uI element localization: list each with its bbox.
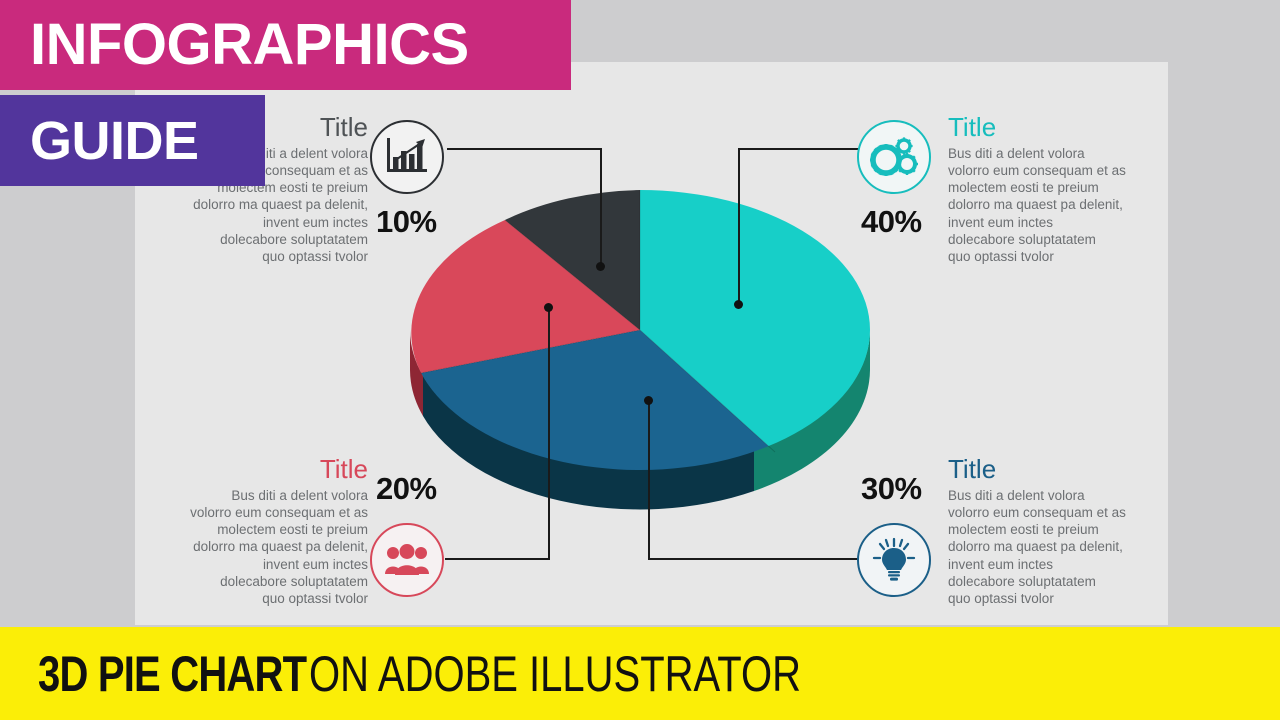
callout-block-bottom-right: Title Bus diti a delent volora volorro e… bbox=[948, 455, 1188, 607]
leader-dot-40 bbox=[734, 300, 743, 309]
leader-dot-10 bbox=[596, 262, 605, 271]
lightbulb-idea-glyph bbox=[873, 538, 915, 582]
banner-guide: GUIDE bbox=[0, 95, 265, 186]
banner-infographics: INFOGRAPHICS bbox=[0, 0, 571, 90]
banner-infographics-label: INFOGRAPHICS bbox=[30, 16, 469, 74]
callout-body-bottom-right: Bus diti a delent volora volorro eum con… bbox=[948, 487, 1188, 608]
callout-block-bottom-left: Title Bus diti a delent volora volorro e… bbox=[128, 455, 368, 607]
leader-line-10-vertical bbox=[600, 148, 602, 268]
leader-line-10-horizontal bbox=[447, 148, 601, 150]
gears-icon[interactable] bbox=[857, 120, 931, 194]
callout-block-top-right: Title Bus diti a delent volora volorro e… bbox=[948, 113, 1188, 265]
people-group-glyph bbox=[385, 544, 429, 576]
callout-body-top-right: Bus diti a delent volora volorro eum con… bbox=[948, 145, 1188, 266]
bottom-title-bold: 3D PIE CHART bbox=[38, 649, 306, 699]
callout-title-top-right: Title bbox=[948, 113, 1188, 142]
leader-line-40-horizontal bbox=[738, 148, 860, 150]
leader-line-30-vertical bbox=[648, 400, 650, 560]
bottom-title-text: 3D PIE CHARTON ADOBE ILLUSTRATOR bbox=[38, 649, 924, 699]
infographic-canvas: 10% 40% 20% 30% Title Bus diti a delent … bbox=[0, 0, 1280, 720]
pie-chart-3d bbox=[408, 190, 872, 510]
leader-line-20-horizontal bbox=[445, 558, 549, 560]
gears-glyph bbox=[870, 135, 918, 179]
percent-label-10: 10% bbox=[376, 206, 437, 237]
leader-line-30-horizontal bbox=[648, 558, 860, 560]
people-group-icon[interactable] bbox=[370, 523, 444, 597]
lightbulb-idea-icon[interactable] bbox=[857, 523, 931, 597]
percent-label-30: 30% bbox=[861, 473, 922, 504]
callout-title-bottom-right: Title bbox=[948, 455, 1188, 484]
percent-label-40: 40% bbox=[861, 206, 922, 237]
callout-body-bottom-left: Bus diti a delent volora volorro eum con… bbox=[128, 487, 368, 608]
pie-chart-svg bbox=[408, 190, 872, 510]
bottom-title-light: ON ADOBE ILLUSTRATOR bbox=[309, 649, 801, 699]
banner-bottom-title: 3D PIE CHARTON ADOBE ILLUSTRATOR bbox=[0, 627, 1280, 720]
bar-chart-growth-glyph bbox=[385, 137, 429, 177]
leader-line-40-vertical bbox=[738, 148, 740, 306]
leader-dot-30 bbox=[644, 396, 653, 405]
leader-dot-20 bbox=[544, 303, 553, 312]
banner-guide-label: GUIDE bbox=[30, 114, 199, 168]
leader-line-20-vertical bbox=[548, 307, 550, 560]
callout-title-bottom-left: Title bbox=[128, 455, 368, 484]
bar-chart-growth-icon[interactable] bbox=[370, 120, 444, 194]
percent-label-20: 20% bbox=[376, 473, 437, 504]
